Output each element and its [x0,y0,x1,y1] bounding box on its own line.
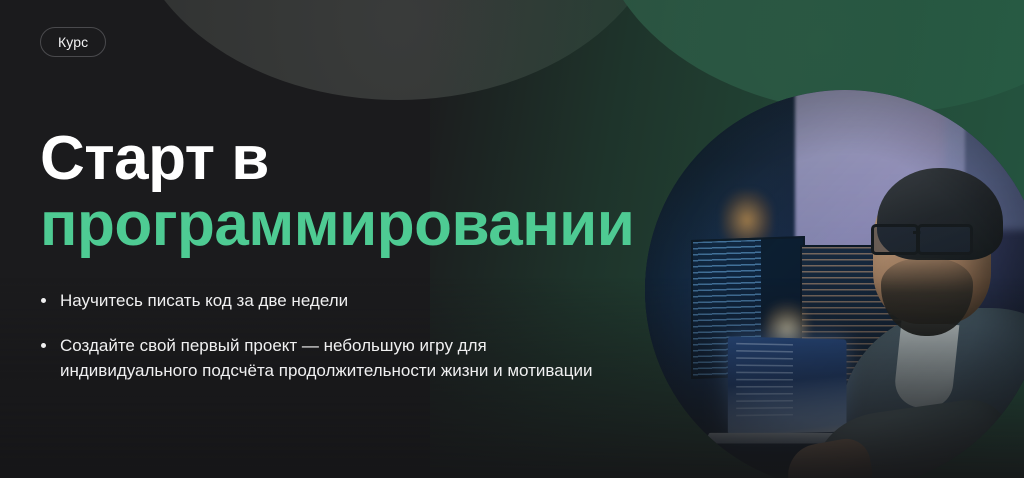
list-item: Создайте свой первый проект — небольшую … [40,333,620,383]
background-circle-grey [128,0,668,100]
list-item-label: Создайте свой первый проект — небольшую … [60,336,592,380]
bullet-dot-icon [41,343,46,348]
course-badge: Курс [40,27,106,57]
page-title-line-2: программировании [40,192,634,258]
course-badge-label: Курс [58,34,88,50]
bullet-dot-icon [41,298,46,303]
page-title-line-1: Старт в [40,126,634,192]
photo-vignette [645,90,1024,478]
hero-photo-circle [645,90,1024,478]
benefits-list: Научитесь писать код за две недели Созда… [40,288,620,383]
list-item-label: Научитесь писать код за две недели [60,291,348,310]
course-hero-banner: Курс Старт в программировании Научитесь … [0,0,1024,478]
developer-photo [645,90,1024,478]
page-title: Старт в программировании [40,126,634,258]
list-item: Научитесь писать код за две недели [40,288,620,313]
